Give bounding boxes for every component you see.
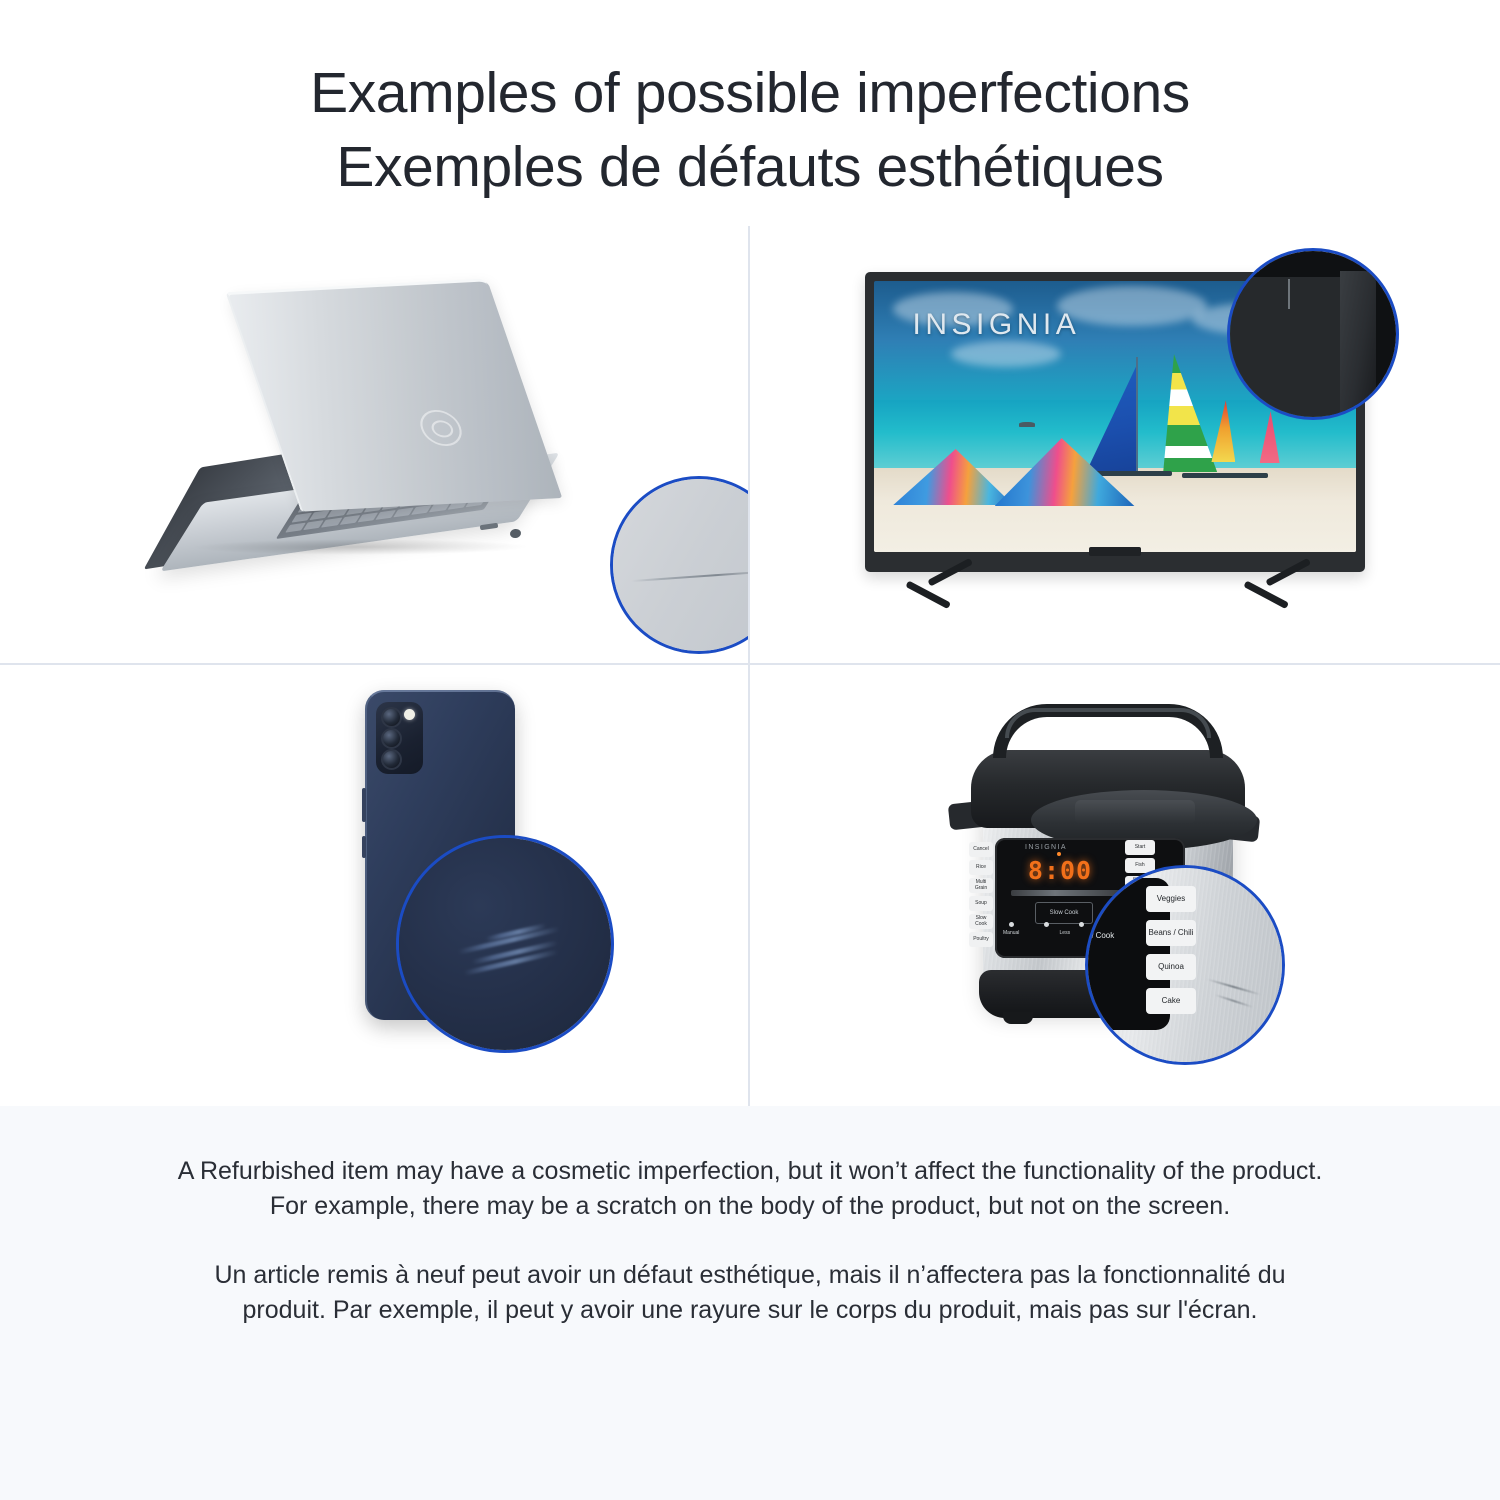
tv-product-image: INSIGNIA [855,248,1395,618]
disclaimer-section: A Refurbished item may have a cosmetic i… [0,1106,1500,1500]
cooker-button[interactable]: Soup [969,896,993,911]
cooker-handle-highlight [1005,708,1211,738]
cooker-steam-valve [1075,800,1195,824]
cooker-button[interactable]: Poultry [969,932,993,947]
magnifier-content-laptop [613,479,748,651]
refurbished-imperfections-infographic: Examples of possible imperfections Exemp… [0,0,1500,1500]
magnifier-content-tv [1230,251,1396,417]
cooker-button[interactable]: Cancel [969,842,993,857]
magnified-button: Beans / Chili [1146,920,1196,946]
laptop-product-image [150,281,620,581]
page-title-en: Examples of possible imperfections [0,56,1500,130]
example-cell-pressure-cooker: INSIGNIA 8:00 Slow Cook Cancel Rice Mult… [750,665,1500,1106]
cooker-button[interactable]: Multi Grain [969,878,993,893]
magnifier-circle-phone [396,835,614,1053]
scratch-mark-laptop [631,570,748,582]
magnified-left-labels: Delay Slow Cook [1085,908,1116,940]
camera-lens-icon [381,749,402,770]
cooker-foot [1003,1012,1033,1024]
cooker-button[interactable]: Start [1125,840,1155,855]
cooker-brand-label: INSIGNIA [1025,844,1067,851]
cooker-mode-window: Slow Cook [1035,902,1093,924]
magnified-button-column: Veggies Beans / Chili Quinoa Cake [1146,886,1196,1014]
magnified-label: Slow Cook [1085,931,1116,940]
laptop-shadow [183,539,536,555]
tv-leg-right [1245,570,1315,604]
cooker-keypad-label[interactable]: Manual [1003,930,1019,936]
tv-brand-logo: INSIGNIA [913,308,1081,342]
magnifier-content-phone [399,838,611,1050]
laptop-audio-jack [509,528,521,538]
cooker-lid [971,750,1245,828]
magnified-tv-bezel-side [1340,271,1376,420]
magnified-button: Quinoa [1146,954,1196,980]
camera-lens-icon [381,728,402,749]
cooker-button[interactable]: Slow Cook [969,914,993,929]
tv-leg-left [907,570,977,604]
magnified-button: Cake [1146,988,1196,1014]
camera-flash-icon [404,709,415,720]
cooker-button[interactable]: Rice [969,860,993,875]
page-title-fr: Exemples de défauts esthétiques [0,130,1500,204]
disclaimer-paragraph-en: A Refurbished item may have a cosmetic i… [170,1154,1330,1224]
phone-illustration [0,665,748,1106]
mast [1136,357,1138,475]
example-cell-tv: INSIGNIA [750,226,1500,663]
pressure-cooker-illustration: INSIGNIA 8:00 Slow Cook Cancel Rice Mult… [750,665,1500,1106]
phone-product-image [310,690,630,1080]
magnifier-circle-tv [1227,248,1399,420]
magnifier-circle-pressure-cooker: Delay Slow Cook Veggies Beans / Chili Qu… [1085,865,1285,1065]
cloud-shape [951,341,1061,367]
boat-hull [1182,473,1268,478]
cooker-keypad-label[interactable]: Less [1060,930,1071,936]
magnifier-circle-laptop [610,476,748,654]
magnified-button: Veggies [1146,886,1196,912]
tv-illustration: INSIGNIA [750,226,1500,663]
distant-boat [1019,422,1035,427]
laptop-illustration [0,226,748,663]
camera-lens-icon [381,707,402,728]
magnifier-content-pressure-cooker: Delay Slow Cook Veggies Beans / Chili Qu… [1088,868,1282,1062]
pressure-cooker-product-image: INSIGNIA 8:00 Slow Cook Cancel Rice Mult… [935,690,1335,1080]
tv-center-bar [1089,547,1141,556]
scratch-mark-tv [1288,279,1290,309]
product-example-grid: INSIGNIA [0,226,1500,1106]
power-button [362,836,366,858]
camera-module [376,702,423,774]
cooker-left-button-column[interactable]: Cancel Rice Multi Grain Soup Slow Cook P… [969,842,993,947]
laptop-usb-port [480,523,499,530]
volume-button [362,788,366,822]
page-header: Examples of possible imperfections Exemp… [0,0,1500,204]
magnified-label: Delay [1085,908,1116,917]
example-cell-laptop [0,226,748,663]
example-cell-phone [0,665,748,1106]
disclaimer-paragraph-fr: Un article remis à neuf peut avoir un dé… [170,1258,1330,1328]
